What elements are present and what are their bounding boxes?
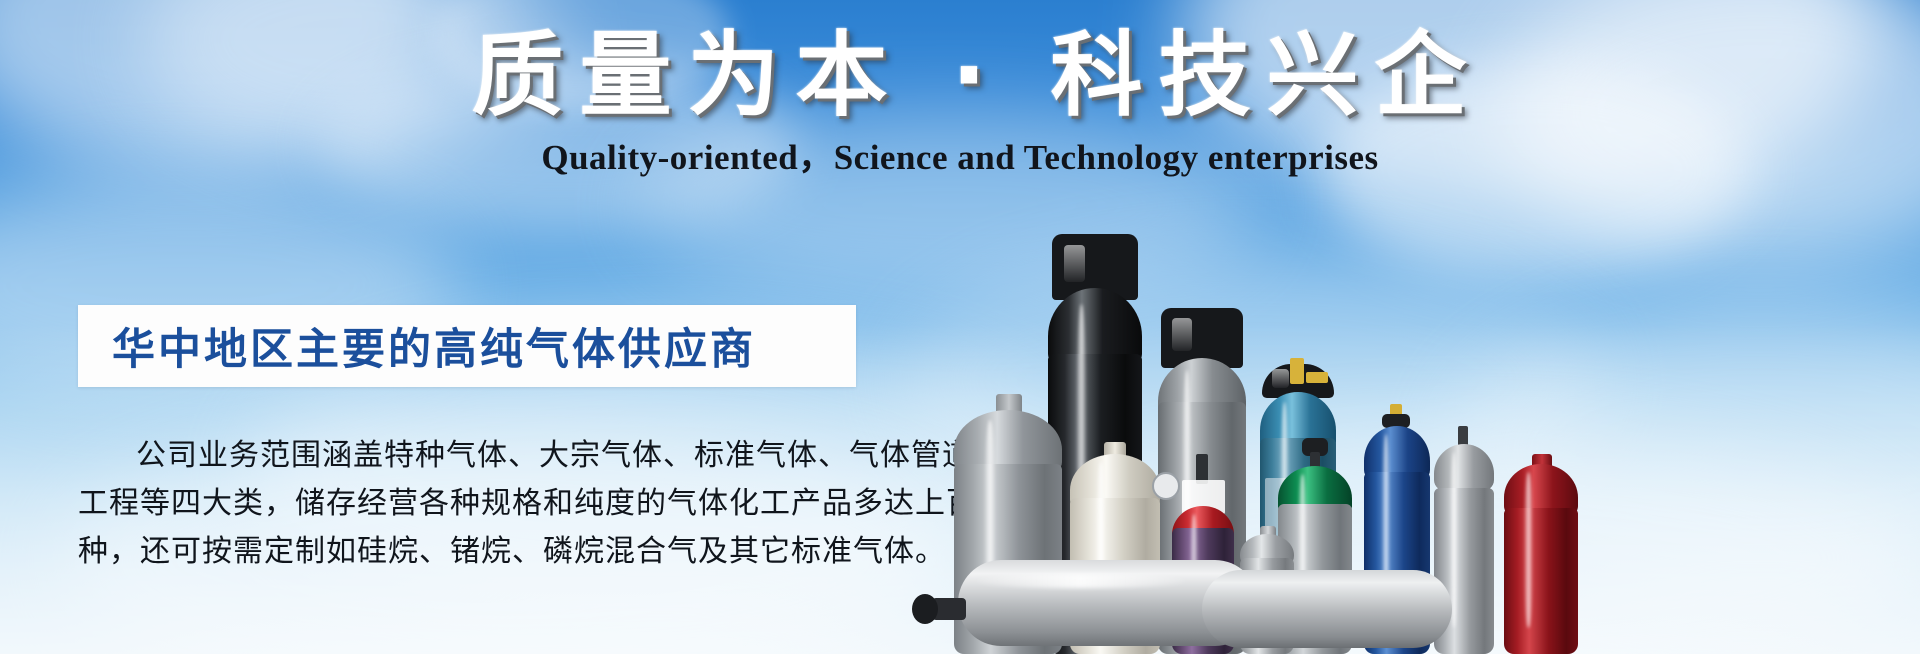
cylinder-highlight bbox=[1524, 472, 1533, 628]
cylinder-handwheel bbox=[1382, 414, 1410, 428]
cylinder-highlight bbox=[1096, 462, 1106, 628]
cylinder-highlight bbox=[1280, 402, 1289, 632]
cylinder-shoulder bbox=[1260, 392, 1336, 454]
tank-cap bbox=[912, 594, 938, 624]
cylinder-highlight bbox=[1382, 434, 1390, 626]
banner-body-copy: 公司业务范围涵盖特种气体、大宗气体、标准气体、气体管道 工程等四大类，储存经营各… bbox=[78, 432, 868, 576]
cylinder-cap-guard bbox=[1161, 308, 1243, 368]
cylinder-cap-guard bbox=[1052, 234, 1138, 300]
cylinder-highlight bbox=[1450, 452, 1458, 628]
cylinder-highlight bbox=[984, 420, 996, 620]
cylinder-body bbox=[1240, 558, 1294, 654]
cylinder-label bbox=[1182, 480, 1225, 514]
cylinder-neck bbox=[996, 394, 1022, 416]
cylinder-shoulder bbox=[1070, 454, 1160, 512]
cylinder-neck bbox=[1104, 442, 1126, 460]
blue-cylinder bbox=[1364, 404, 1430, 654]
cylinder-body bbox=[1260, 438, 1336, 654]
cylinder-cap-guard bbox=[1262, 364, 1334, 398]
cylinder-valve bbox=[1310, 452, 1320, 472]
tall-black-cylinder bbox=[1048, 234, 1142, 654]
cylinder-highlight bbox=[1182, 370, 1192, 632]
cylinder-shoulder bbox=[1504, 464, 1578, 518]
cylinder-highlight bbox=[1190, 514, 1198, 644]
cloud-shape bbox=[900, 250, 1600, 510]
cylinder-body bbox=[1434, 488, 1494, 654]
cylinder-neck bbox=[1260, 526, 1276, 540]
light-grey-cylinder bbox=[954, 394, 1062, 654]
horizontal-silver-tank bbox=[958, 560, 1258, 646]
green-shoulder-cylinder bbox=[1278, 438, 1352, 654]
cylinder-neck bbox=[1532, 454, 1552, 470]
cylinder-shoulder bbox=[1240, 534, 1294, 568]
pressure-gauge bbox=[1152, 472, 1180, 500]
cylinder-body bbox=[1048, 354, 1142, 654]
cylinder-highlight bbox=[1298, 474, 1307, 634]
cloud-shape bbox=[1450, 300, 1920, 600]
cylinder-shoulder bbox=[1278, 466, 1352, 518]
cylinder-body bbox=[1070, 498, 1160, 654]
small-aluminium-bottle bbox=[1240, 526, 1294, 654]
cylinder-shoulder bbox=[1048, 288, 1142, 366]
cylinder-body bbox=[1364, 472, 1430, 654]
banner-headline-english: Quality-oriented，Science and Technology … bbox=[0, 136, 1920, 180]
red-top-cylinder bbox=[1172, 454, 1234, 654]
cylinder-body bbox=[1504, 508, 1578, 654]
tall-grey-cylinder bbox=[1158, 308, 1246, 654]
cylinder-label bbox=[1265, 478, 1332, 598]
cylinder-valve-outlet bbox=[1306, 372, 1328, 383]
cylinder-shoulder bbox=[1364, 426, 1430, 482]
cylinder-valve bbox=[1196, 454, 1208, 484]
cylinder-valve bbox=[1458, 426, 1468, 448]
body-line: 工程等四大类，储存经营各种规格和纯度的气体化工产品多达上百 bbox=[78, 480, 868, 528]
cloud-shape bbox=[1020, 430, 1920, 654]
body-line: 公司业务范围涵盖特种气体、大宗气体、标准气体、气体管道 bbox=[78, 432, 868, 480]
cylinder-body bbox=[1158, 402, 1246, 654]
cream-white-cylinder bbox=[1070, 442, 1160, 654]
cylinder-highlight bbox=[1076, 304, 1087, 624]
body-line: 种，还可按需定制如硅烷、锗烷、磷烷混合气及其它标准气体。 bbox=[78, 528, 868, 576]
teal-blue-cylinder bbox=[1260, 358, 1336, 654]
dark-red-cylinder bbox=[1504, 454, 1578, 654]
horizontal-silver-tank-second bbox=[1202, 570, 1452, 648]
callout-text: 华中地区主要的高纯气体供应商 bbox=[78, 315, 756, 377]
cylinder-shoulder bbox=[1158, 358, 1246, 428]
cylinder-shoulder bbox=[1434, 444, 1494, 492]
tank-valve bbox=[932, 598, 966, 620]
cylinder-body bbox=[1278, 504, 1352, 654]
cylinder-valve bbox=[1290, 358, 1304, 384]
cylinder-handwheel bbox=[1302, 438, 1328, 456]
aluminium-cylinder bbox=[1434, 426, 1494, 654]
banner-headline-chinese: 质量为本 · 科技兴企 bbox=[0, 22, 1920, 130]
cylinder-shoulder bbox=[1172, 506, 1234, 552]
callout-box: 华中地区主要的高纯气体供应商 bbox=[78, 305, 856, 387]
cylinder-body bbox=[1172, 528, 1234, 654]
cylinder-valve bbox=[1390, 404, 1402, 430]
hero-banner: 质量为本 · 科技兴企 Quality-oriented，Science and… bbox=[0, 0, 1920, 654]
